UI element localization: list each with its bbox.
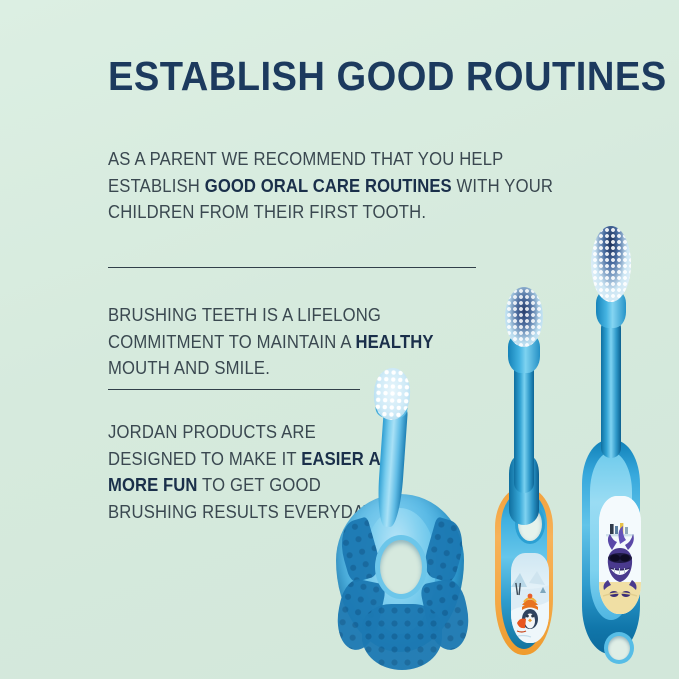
bristle-tufts	[505, 287, 543, 347]
p2-line2a: TO MAINTAIN A	[229, 331, 356, 352]
junior-brush-neck	[514, 361, 534, 493]
product-image-baby-teether-toothbrush	[330, 368, 478, 653]
p1-bold-good-oral-care-routines: GOOD ORAL CARE ROUTINES	[205, 175, 452, 196]
kids-brush-finger-hole	[608, 636, 630, 660]
grip-texture-dots	[420, 516, 469, 583]
p3-line2a: DESIGNED TO MAKE IT	[108, 448, 301, 469]
penguin-icon	[511, 553, 549, 643]
divider-one	[108, 267, 476, 268]
junior-brush-bristles	[505, 287, 543, 347]
page-title: ESTABLISH GOOD ROUTINES	[108, 54, 554, 98]
poster-canvas: ESTABLISH GOOD ROUTINES AS A PARENT WE R…	[0, 0, 679, 679]
baby-brush-handle	[336, 494, 464, 652]
penguin-snow-scene-graphic	[511, 553, 549, 643]
baby-brush-grip-top-right	[420, 516, 469, 583]
grip-texture-dots	[362, 604, 442, 670]
kids-brush-bristles	[591, 226, 631, 302]
bristle-tufts	[373, 367, 412, 421]
paragraph-one: AS A PARENT WE RECOMMEND THAT YOU HELP E…	[108, 146, 594, 226]
product-image-kids-toothbrush-monster	[578, 226, 644, 654]
divider-two	[108, 389, 360, 390]
baby-brush-finger-hole	[380, 540, 422, 594]
text-column: ESTABLISH GOOD ROUTINES AS A PARENT WE R…	[108, 54, 588, 98]
bristle-tufts	[591, 226, 631, 302]
p3-line3b: TO GET	[198, 474, 265, 495]
baby-brush-grip-bottom	[362, 604, 442, 670]
p2-line2b: MOUTH AND SMILE.	[108, 357, 270, 378]
p2-bold-healthy: HEALTHY	[356, 331, 434, 352]
baby-brush-bristles	[373, 367, 412, 421]
kids-brush-handle-inner	[590, 452, 632, 620]
kids-brush-neck	[601, 318, 621, 458]
product-image-junior-toothbrush-penguin	[493, 287, 555, 655]
monster-bathroom-scene-graphic	[599, 496, 641, 614]
p3-line1: JORDAN PRODUCTS ARE	[108, 421, 316, 442]
monster-icon	[599, 496, 641, 614]
p1-line3: THEIR FIRST TOOTH.	[254, 201, 427, 222]
kids-brush-handle-outer	[582, 440, 640, 654]
